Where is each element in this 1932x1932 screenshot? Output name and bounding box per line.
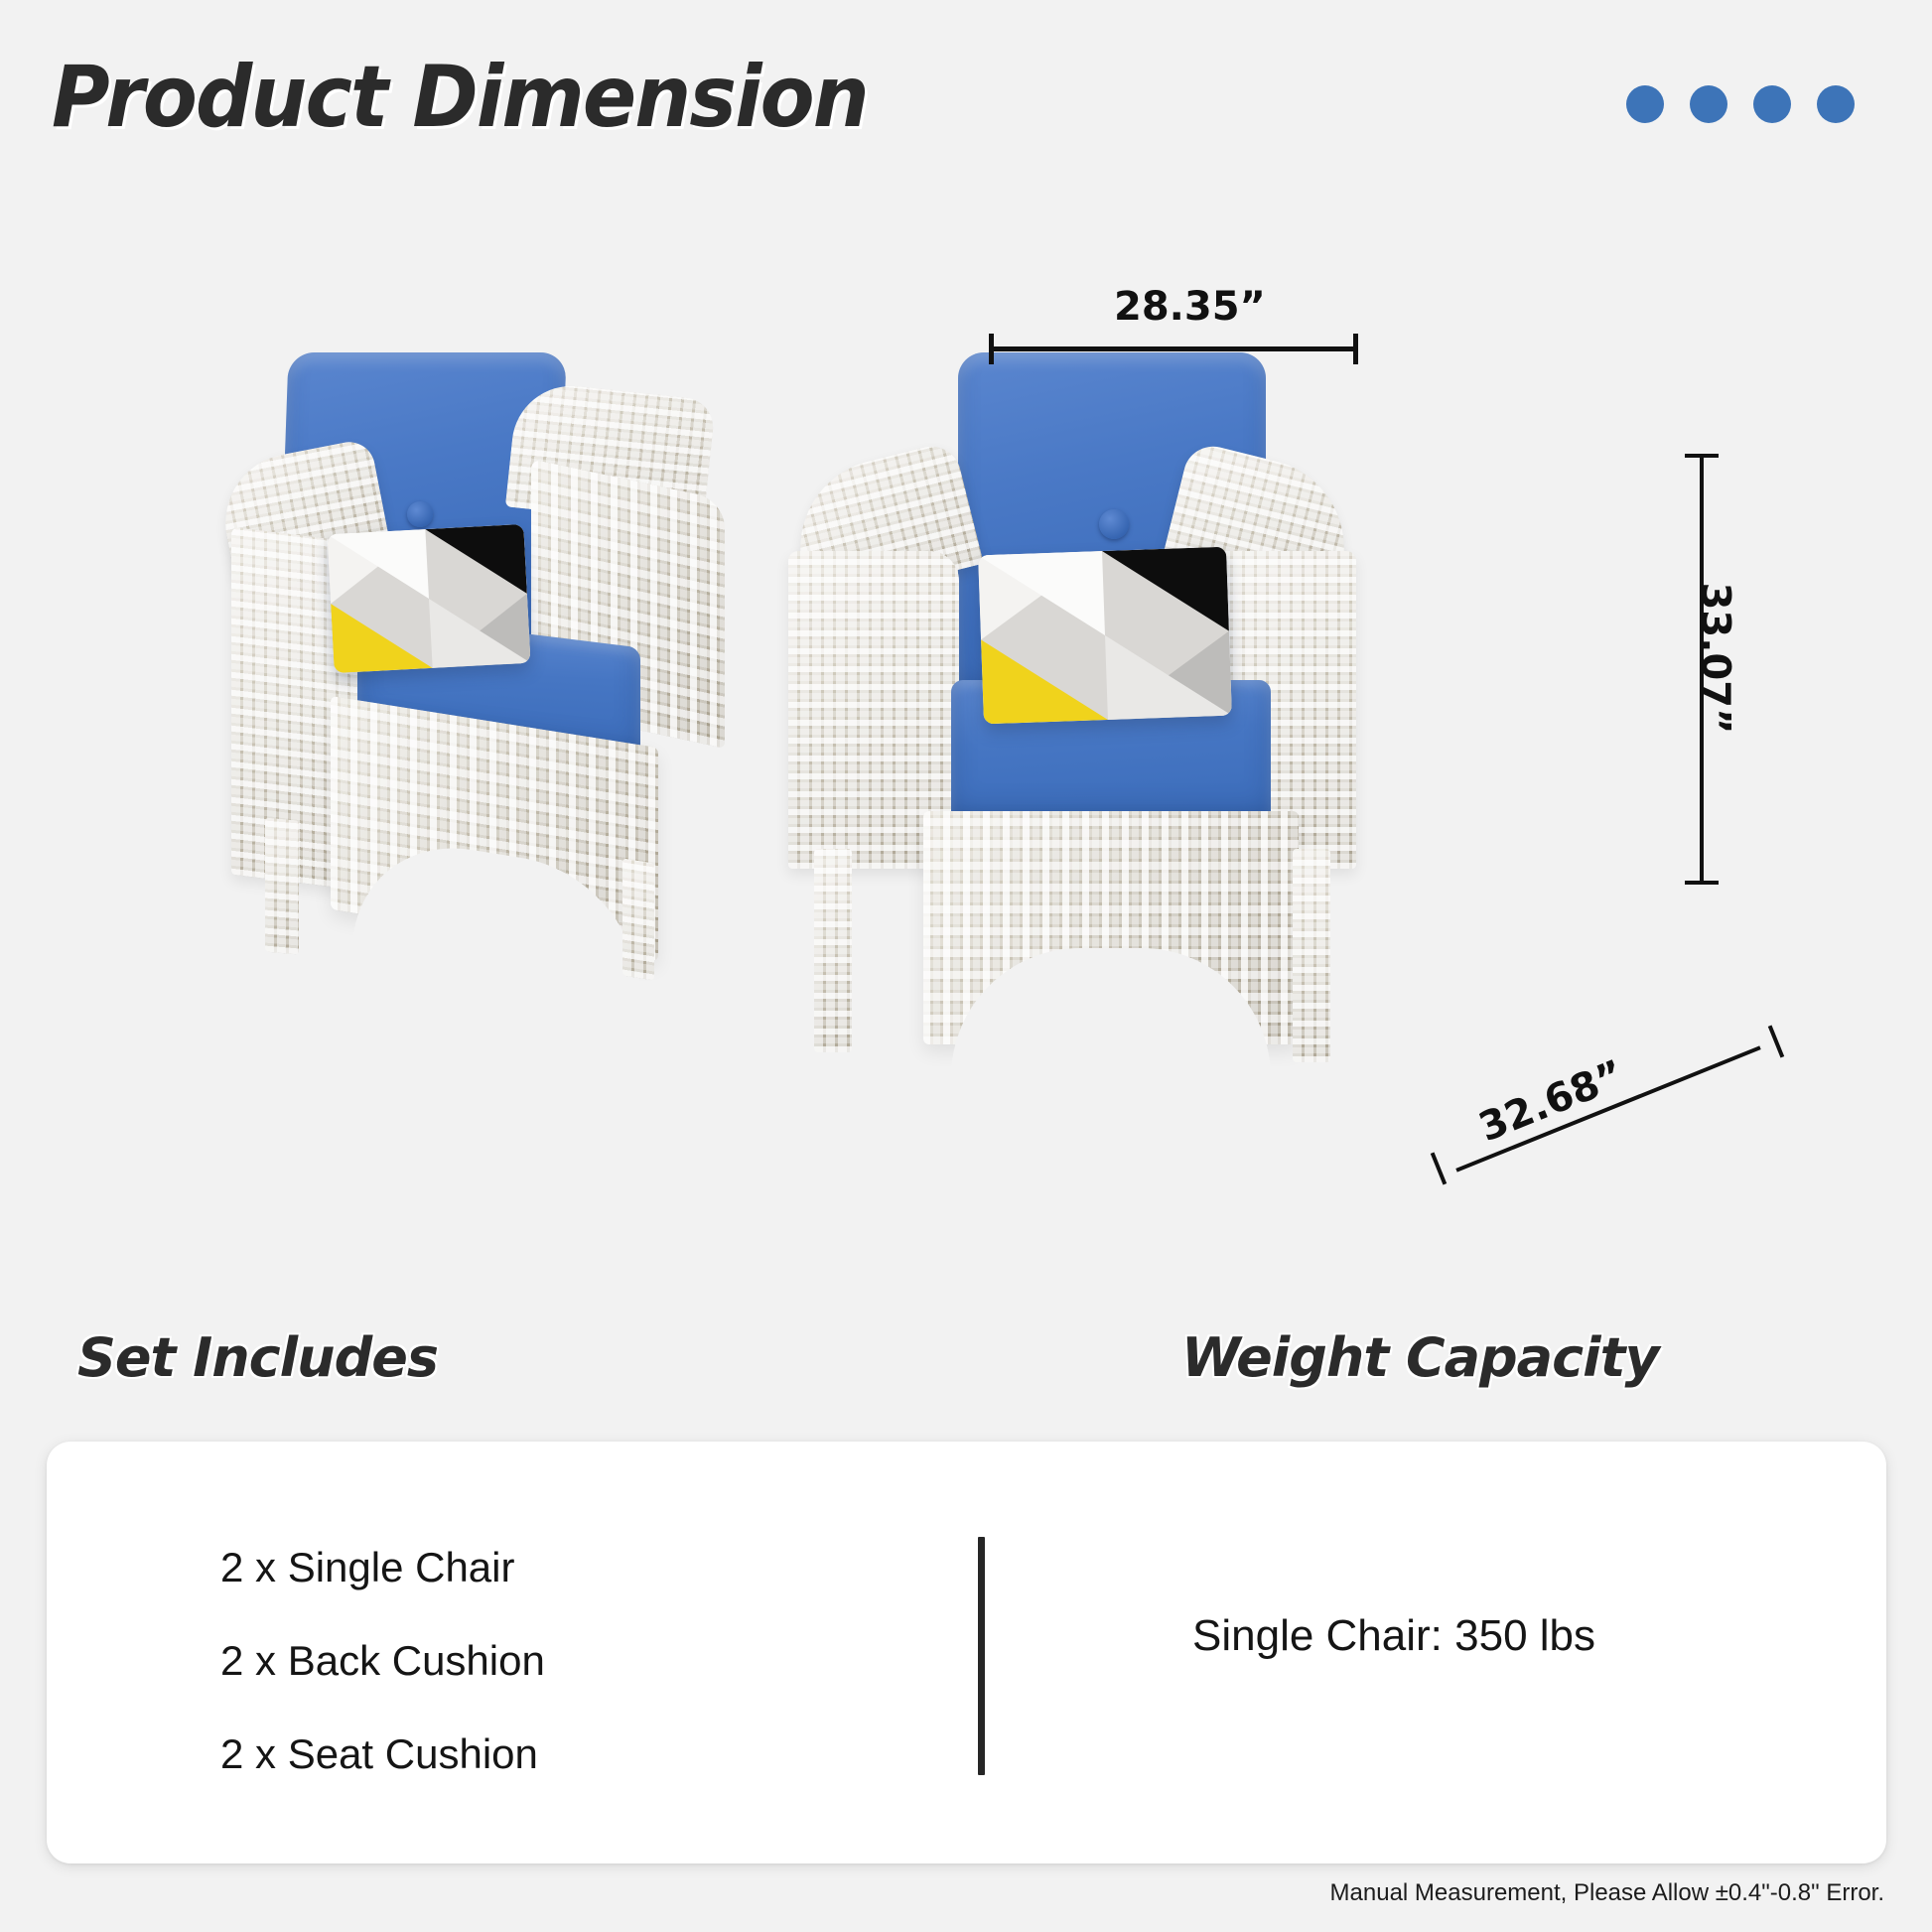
product-chair-right [774, 352, 1370, 1137]
throw-pillow [978, 547, 1232, 725]
dimension-height-cap-bottom [1685, 881, 1719, 885]
measurement-disclaimer: Manual Measurement, Please Allow ±0.4"-0… [1330, 1879, 1884, 1907]
list-item: 2 x Seat Cushion [220, 1733, 545, 1775]
set-includes-list: 2 x Single Chair 2 x Back Cushion 2 x Se… [220, 1547, 545, 1827]
dimension-width-line [989, 346, 1358, 351]
list-item: 2 x Single Chair [220, 1547, 545, 1588]
product-image-stage: 28.35” 33.07” 32.68” [0, 258, 1932, 1291]
card-vertical-divider [978, 1537, 985, 1775]
weight-capacity-heading: Weight Capacity [1181, 1326, 1659, 1389]
set-includes-heading: Set Includes [77, 1326, 438, 1389]
header-dot-group [1626, 85, 1855, 123]
dimension-depth-cap-near [1431, 1152, 1447, 1184]
decorative-dot-icon [1690, 85, 1727, 123]
decorative-dot-icon [1817, 85, 1855, 123]
dimension-width-cap-left [989, 334, 994, 364]
dimension-depth-label: 32.68” [1472, 1051, 1630, 1151]
dimension-height-label: 33.07” [1692, 583, 1737, 735]
chair-leg-front-right [1293, 849, 1330, 1062]
chair-leg-front-left [814, 849, 852, 1052]
weight-capacity-value: Single Chair: 350 lbs [1192, 1611, 1595, 1661]
product-dimension-infographic: Product Dimension [0, 0, 1932, 1932]
page-title: Product Dimension [52, 48, 868, 147]
dimension-width-cap-right [1353, 334, 1358, 364]
chair-leg-front-left [265, 818, 299, 955]
dimension-width-label: 28.35” [1114, 284, 1266, 330]
throw-pillow [327, 524, 530, 673]
decorative-dot-icon [1753, 85, 1791, 123]
dimension-height-cap-top [1685, 454, 1719, 458]
product-chair-left [213, 352, 730, 1087]
cushion-tuft-button [1099, 509, 1129, 539]
list-item: 2 x Back Cushion [220, 1640, 545, 1682]
chair-leg-front-right [622, 858, 654, 980]
decorative-dot-icon [1626, 85, 1664, 123]
cushion-tuft-button [407, 501, 433, 527]
dimension-depth-cap-far [1768, 1025, 1784, 1057]
